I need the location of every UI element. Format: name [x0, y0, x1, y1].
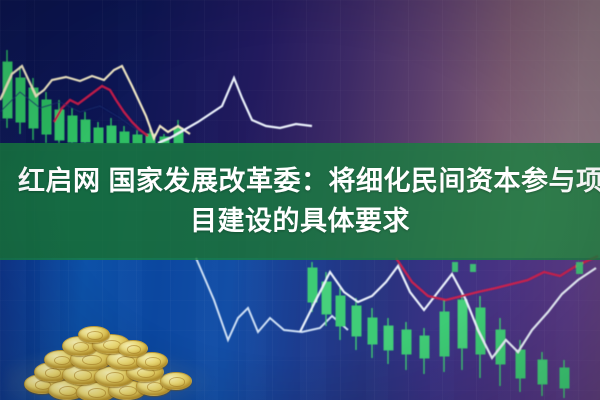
headline-line-2: 目建设的具体要求: [0, 203, 600, 240]
small-candles-accent: [452, 262, 583, 274]
gold-coin-pile: [18, 328, 198, 400]
candlestick-group-top-left: [3, 50, 183, 143]
red-trend-line-bottom: [396, 256, 598, 300]
headline-line-1: 红启网 国家发展改革委：将细化民间资本参与项: [0, 163, 600, 200]
headline-text: 红启网 国家发展改革委：将细化民间资本参与项 目建设的具体要求: [0, 143, 600, 260]
news-banner-image: 红启网 国家发展改革委：将细化民间资本参与项 目建设的具体要求: [0, 0, 600, 400]
